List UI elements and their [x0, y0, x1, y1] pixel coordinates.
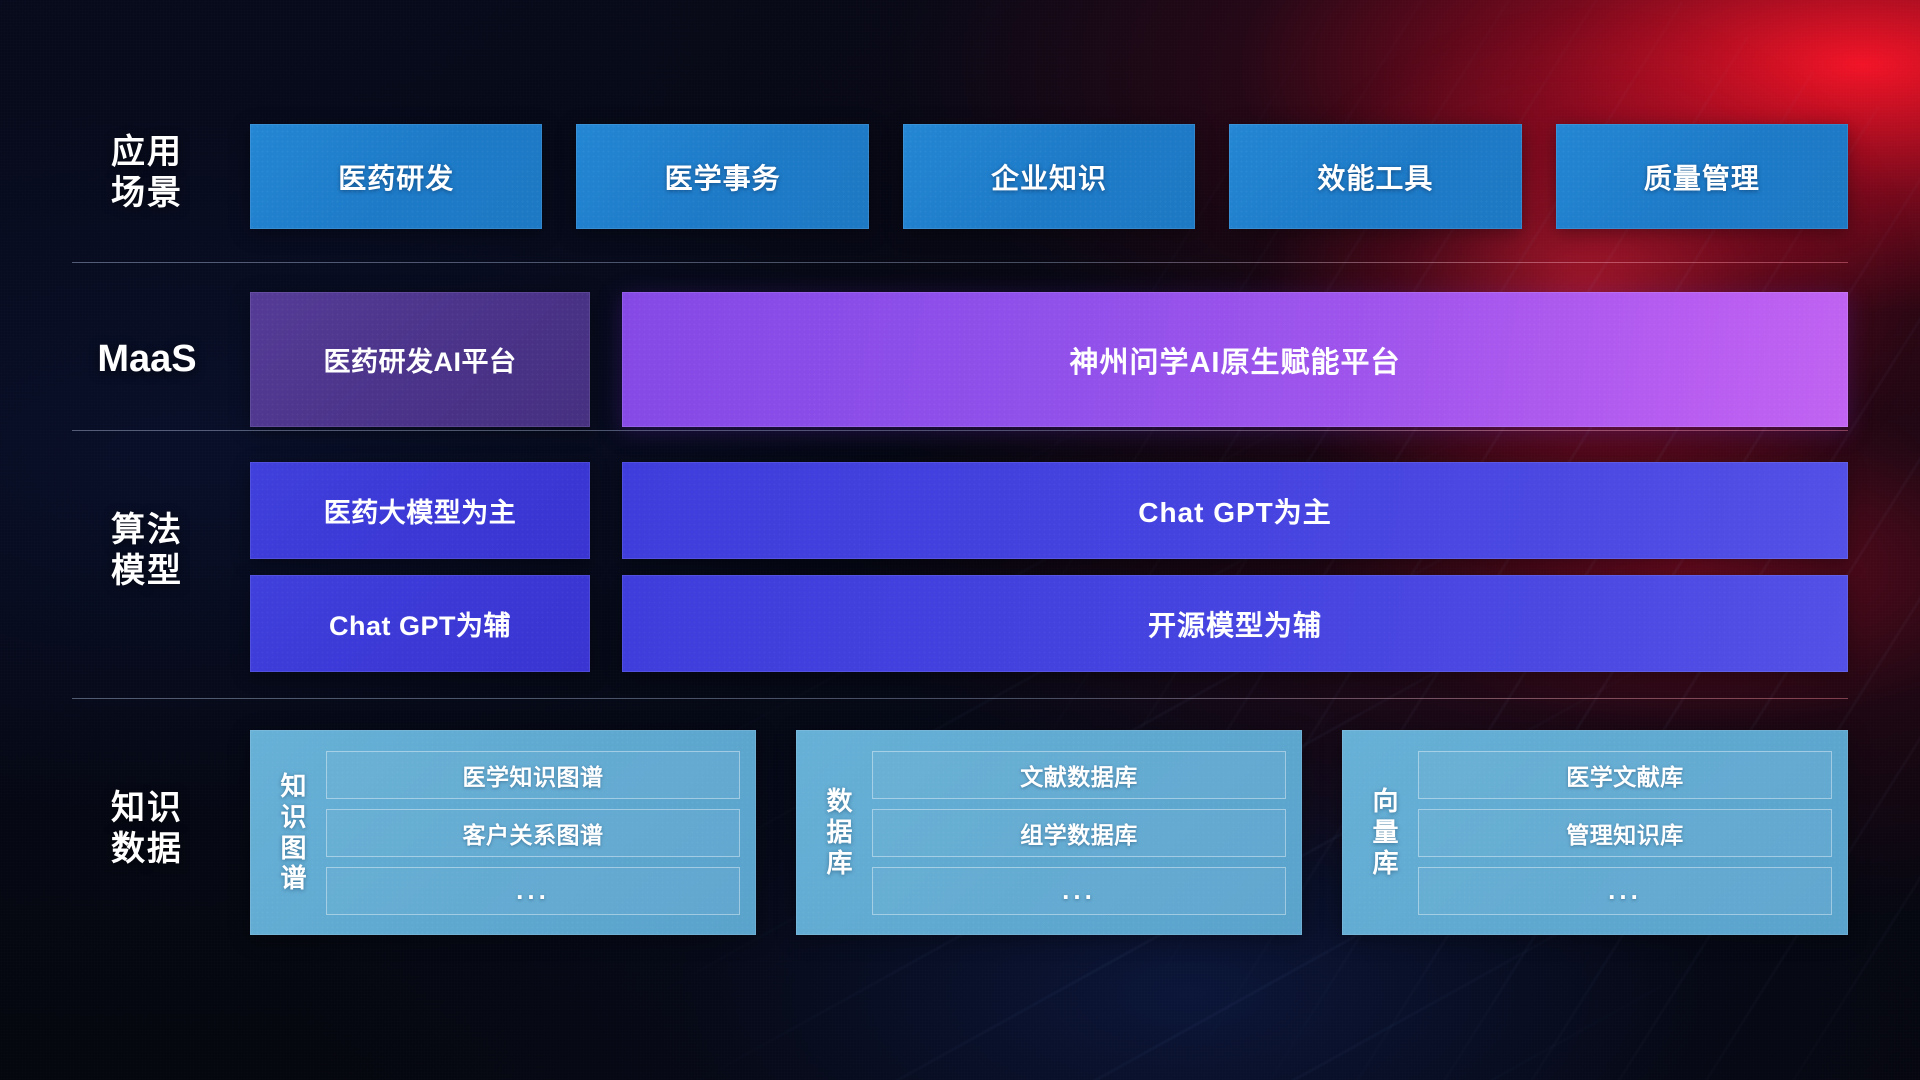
knowledge-item-label: 文献数据库: [1020, 758, 1138, 792]
algo-box-drug-large-model-primary[interactable]: 医药大模型为主: [250, 462, 590, 559]
divider-1: [72, 262, 1848, 263]
algo-box-label: Chat GPT为主: [1138, 491, 1332, 531]
app-box-quality-management[interactable]: 质量管理: [1556, 124, 1848, 229]
title-char: 量: [1372, 817, 1399, 848]
knowledge-item-more-2[interactable]: ...: [872, 867, 1286, 915]
row-label-line: 模型: [72, 551, 222, 592]
knowledge-item-omics-database[interactable]: 组学数据库: [872, 809, 1286, 857]
title-char: 库: [826, 848, 853, 879]
knowledge-item-management-knowledge-store[interactable]: 管理知识库: [1418, 809, 1832, 857]
row-label-line: 场景: [72, 173, 222, 214]
knowledge-item-customer-relation-graph[interactable]: 客户关系图谱: [326, 809, 740, 857]
maas-box-label: 医药研发AI平台: [324, 340, 517, 379]
algo-box-label: 开源模型为辅: [1148, 604, 1322, 644]
knowledge-panel-database: 数 据 库 文献数据库 组学数据库 ...: [796, 730, 1302, 935]
app-box-label: 医学事务: [665, 157, 781, 197]
app-box-label: 医药研发: [338, 157, 454, 197]
knowledge-panel-title-database: 数 据 库: [808, 742, 872, 923]
knowledge-item-more-3[interactable]: ...: [1418, 867, 1832, 915]
app-box-efficiency-tools[interactable]: 效能工具: [1229, 124, 1521, 229]
app-box-label: 效能工具: [1317, 157, 1433, 197]
app-box-enterprise-knowledge[interactable]: 企业知识: [903, 124, 1195, 229]
knowledge-item-medical-knowledge-graph[interactable]: 医学知识图谱: [326, 751, 740, 799]
knowledge-item-more-1[interactable]: ...: [326, 867, 740, 915]
row-label-knowledge-data: 知识 数据: [72, 788, 222, 871]
row-label-maas: MaaS: [72, 336, 222, 382]
title-char: 库: [1372, 848, 1399, 879]
row-label-line: 知识: [72, 788, 222, 829]
algo-box-label: 医药大模型为主: [324, 491, 517, 530]
app-box-drug-rd[interactable]: 医药研发: [250, 124, 542, 229]
knowledge-panel-title-vector-store: 向 量 库: [1354, 742, 1418, 923]
row-label-application-scenarios: 应用 场景: [72, 132, 222, 215]
title-char: 据: [826, 817, 853, 848]
knowledge-item-literature-database[interactable]: 文献数据库: [872, 751, 1286, 799]
row-label-algorithm-models: 算法 模型: [72, 510, 222, 593]
maas-boxes: 医药研发AI平台 神州问学AI原生赋能平台: [250, 292, 1848, 427]
knowledge-item-label: ...: [1608, 875, 1642, 906]
knowledge-panel-vector-store: 向 量 库 医学文献库 管理知识库 ...: [1342, 730, 1848, 935]
knowledge-item-label: ...: [516, 875, 550, 906]
row-label-line: MaaS: [72, 336, 222, 382]
knowledge-item-label: 组学数据库: [1020, 816, 1138, 850]
title-char: 图: [280, 833, 307, 864]
app-box-label: 质量管理: [1644, 157, 1760, 197]
knowledge-item-label: 医学文献库: [1566, 758, 1684, 792]
slide-canvas: 应用 场景 医药研发 医学事务 企业知识 效能工具 质量管理 MaaS: [0, 0, 1920, 1080]
title-char: 识: [280, 802, 307, 833]
knowledge-item-label: ...: [1062, 875, 1096, 906]
title-char: 知: [280, 771, 307, 802]
algo-box-label: Chat GPT为辅: [329, 604, 511, 643]
divider-2: [72, 430, 1848, 431]
title-char: 向: [1372, 786, 1399, 817]
algo-box-open-source-secondary[interactable]: 开源模型为辅: [622, 575, 1848, 672]
algo-box-chatgpt-secondary[interactable]: Chat GPT为辅: [250, 575, 590, 672]
knowledge-item-label: 管理知识库: [1566, 816, 1684, 850]
knowledge-item-label: 客户关系图谱: [463, 816, 604, 850]
knowledge-panel-knowledge-graph: 知 识 图 谱 医学知识图谱 客户关系图谱 ...: [250, 730, 756, 935]
title-char: 数: [826, 786, 853, 817]
algorithm-line-secondary: Chat GPT为辅 开源模型为辅: [250, 575, 1848, 672]
app-box-label: 企业知识: [991, 157, 1107, 197]
row-label-line: 数据: [72, 829, 222, 870]
title-char: 谱: [280, 863, 307, 894]
maas-box-shenzhou-wenxue-platform[interactable]: 神州问学AI原生赋能平台: [622, 292, 1848, 427]
maas-box-label: 神州问学AI原生赋能平台: [1069, 339, 1400, 381]
maas-box-drug-rd-ai-platform[interactable]: 医药研发AI平台: [250, 292, 590, 427]
app-box-medical-affairs[interactable]: 医学事务: [576, 124, 868, 229]
algorithm-line-primary: 医药大模型为主 Chat GPT为主: [250, 462, 1848, 559]
application-scenario-boxes: 医药研发 医学事务 企业知识 效能工具 质量管理: [250, 124, 1848, 229]
knowledge-item-label: 医学知识图谱: [463, 758, 604, 792]
algo-box-chatgpt-primary[interactable]: Chat GPT为主: [622, 462, 1848, 559]
row-label-line: 算法: [72, 510, 222, 551]
knowledge-panels: 知 识 图 谱 医学知识图谱 客户关系图谱 ... 数: [250, 730, 1848, 935]
divider-3: [72, 698, 1848, 699]
knowledge-panel-title-knowledge-graph: 知 识 图 谱: [262, 742, 326, 923]
knowledge-item-medical-literature-store[interactable]: 医学文献库: [1418, 751, 1832, 799]
row-label-line: 应用: [72, 132, 222, 173]
